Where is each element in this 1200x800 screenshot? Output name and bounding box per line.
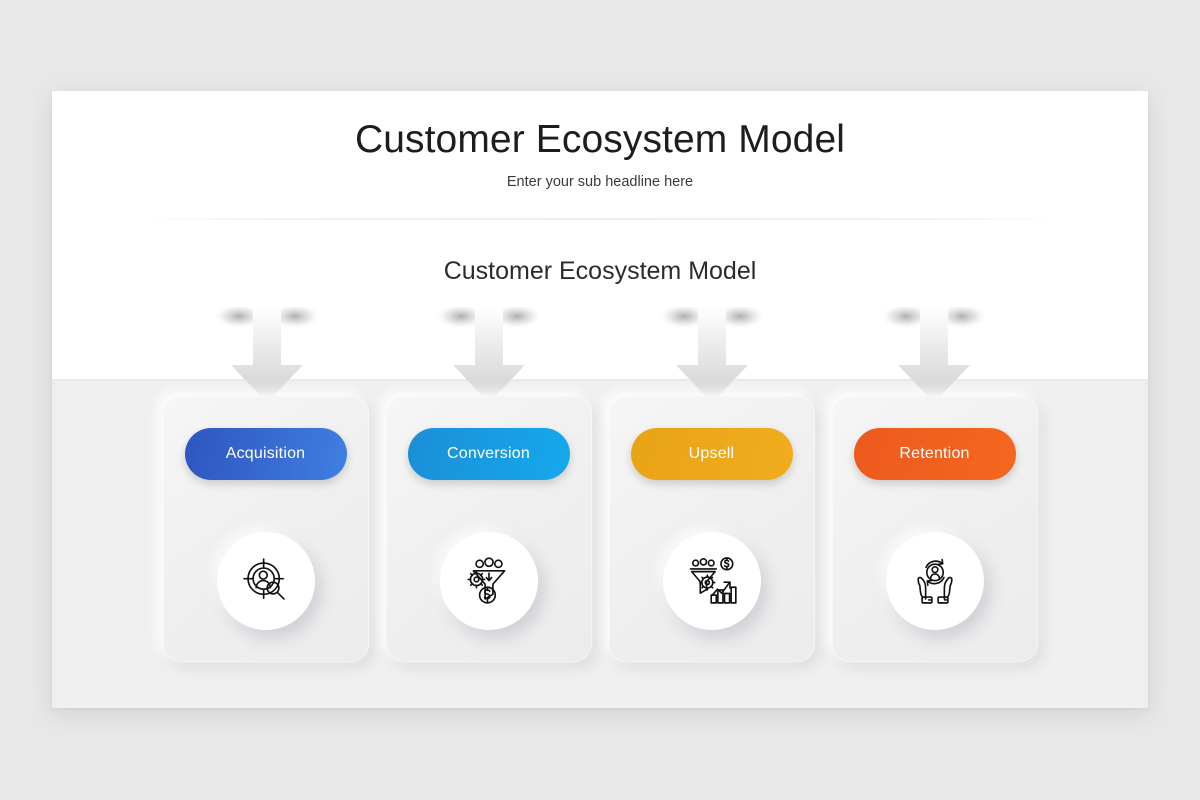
- stage-card-row: Acquisition Conversion: [52, 396, 1148, 686]
- stage-icon-circle-upsell[interactable]: [663, 532, 761, 630]
- page-subtitle: Enter your sub headline here: [52, 174, 1148, 190]
- stage-pill-label: Retention: [899, 445, 969, 463]
- slide-header: Customer Ecosystem Model Enter your sub …: [52, 91, 1148, 190]
- stage-card-acquisition[interactable]: Acquisition: [163, 396, 369, 662]
- stage-pill-label: Upsell: [689, 445, 735, 463]
- page-title: Customer Ecosystem Model: [52, 117, 1148, 164]
- stage-icon-circle-retention[interactable]: [886, 532, 984, 630]
- funnel-gear-dollar-icon: [464, 556, 514, 606]
- header-divider: [140, 218, 1060, 220]
- stage-pill-label: Conversion: [447, 445, 530, 463]
- hands-holding-person-icon: [910, 556, 960, 606]
- stage-icon-circle-conversion[interactable]: [440, 532, 538, 630]
- stage-pill-retention[interactable]: Retention: [854, 428, 1016, 480]
- stage-pill-conversion[interactable]: Conversion: [408, 428, 570, 480]
- funnel-growth-chart-icon: [687, 556, 737, 606]
- stage-pill-acquisition[interactable]: Acquisition: [185, 428, 347, 480]
- section-title: Customer Ecosystem Model: [52, 257, 1148, 286]
- slide-canvas: Customer Ecosystem Model Enter your sub …: [52, 91, 1148, 708]
- target-person-magnifier-icon: [241, 556, 291, 606]
- stage-icon-circle-acquisition[interactable]: [217, 532, 315, 630]
- stage-card-conversion[interactable]: Conversion: [386, 396, 592, 662]
- stage-pill-label: Acquisition: [226, 445, 306, 463]
- stage-card-retention[interactable]: Retention: [832, 396, 1038, 662]
- stage-pill-upsell[interactable]: Upsell: [631, 428, 793, 480]
- stage-card-upsell[interactable]: Upsell: [609, 396, 815, 662]
